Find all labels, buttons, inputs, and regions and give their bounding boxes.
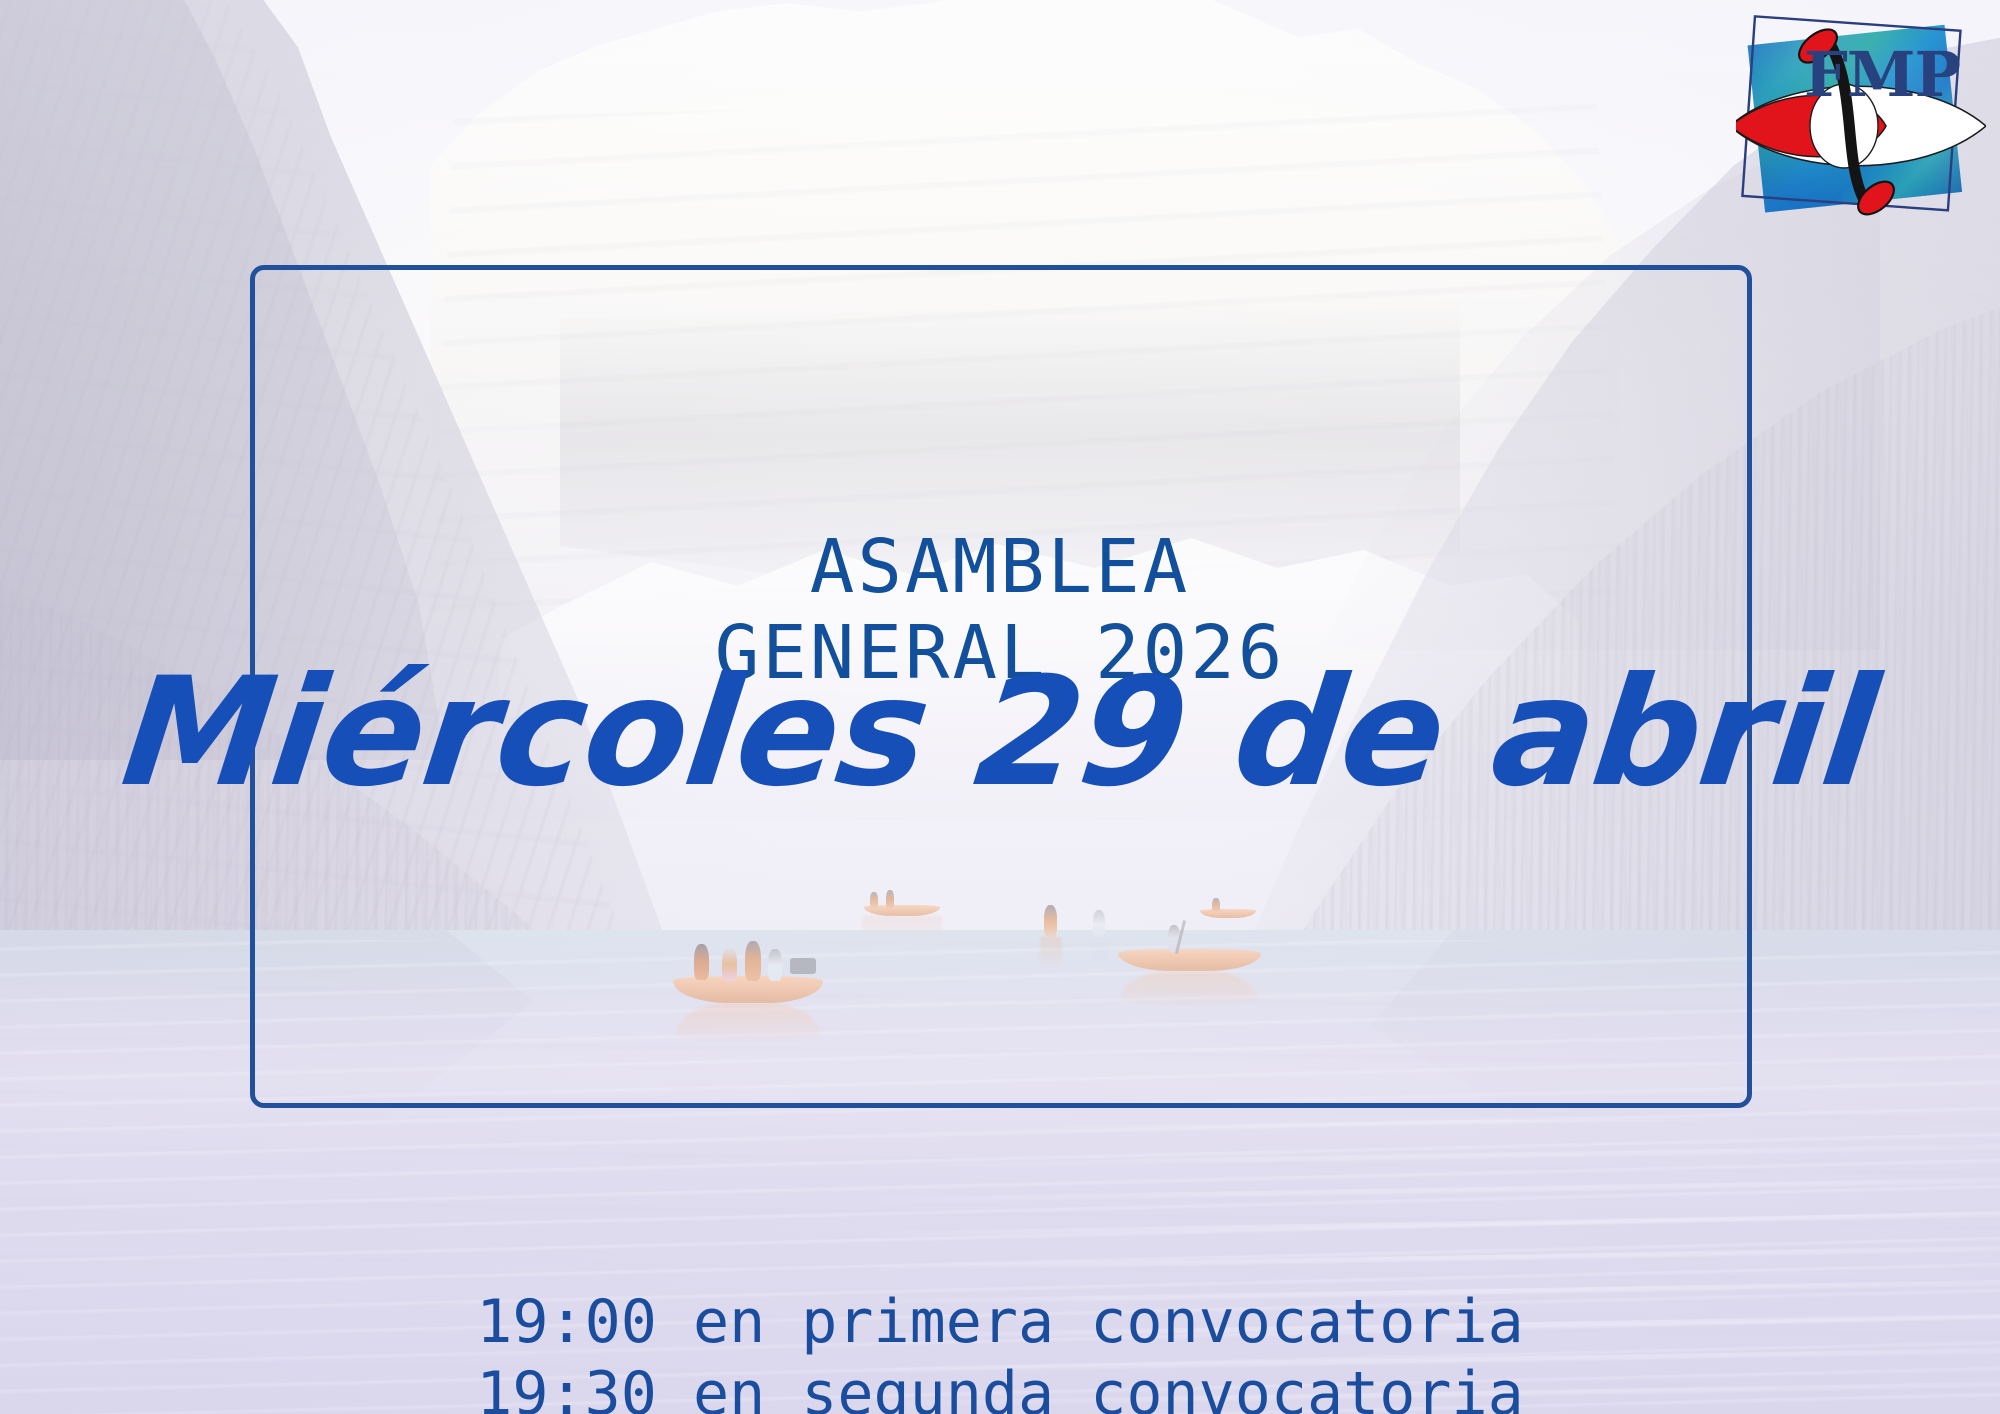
convocation-times: 19:00 en primera convocatoria19:30 en se… [0, 1142, 2000, 1414]
event-date: Miércoles 29 de abril [0, 640, 2000, 826]
logo-wordmark: FMP [1804, 38, 1961, 111]
time-second-call: 19:30 en segunda convocatoria [0, 1358, 2000, 1414]
title-line-asamblea: ASAMBLEA [0, 524, 2000, 610]
poster-canvas: ASAMBLEAGENERAL 2026 Miércoles 29 de abr… [0, 0, 2000, 1414]
time-first-call: 19:00 en primera convocatoria [0, 1286, 2000, 1358]
fmp-logo-icon: FMP [1736, 12, 1986, 224]
fmp-logo: FMP [1736, 12, 1986, 224]
